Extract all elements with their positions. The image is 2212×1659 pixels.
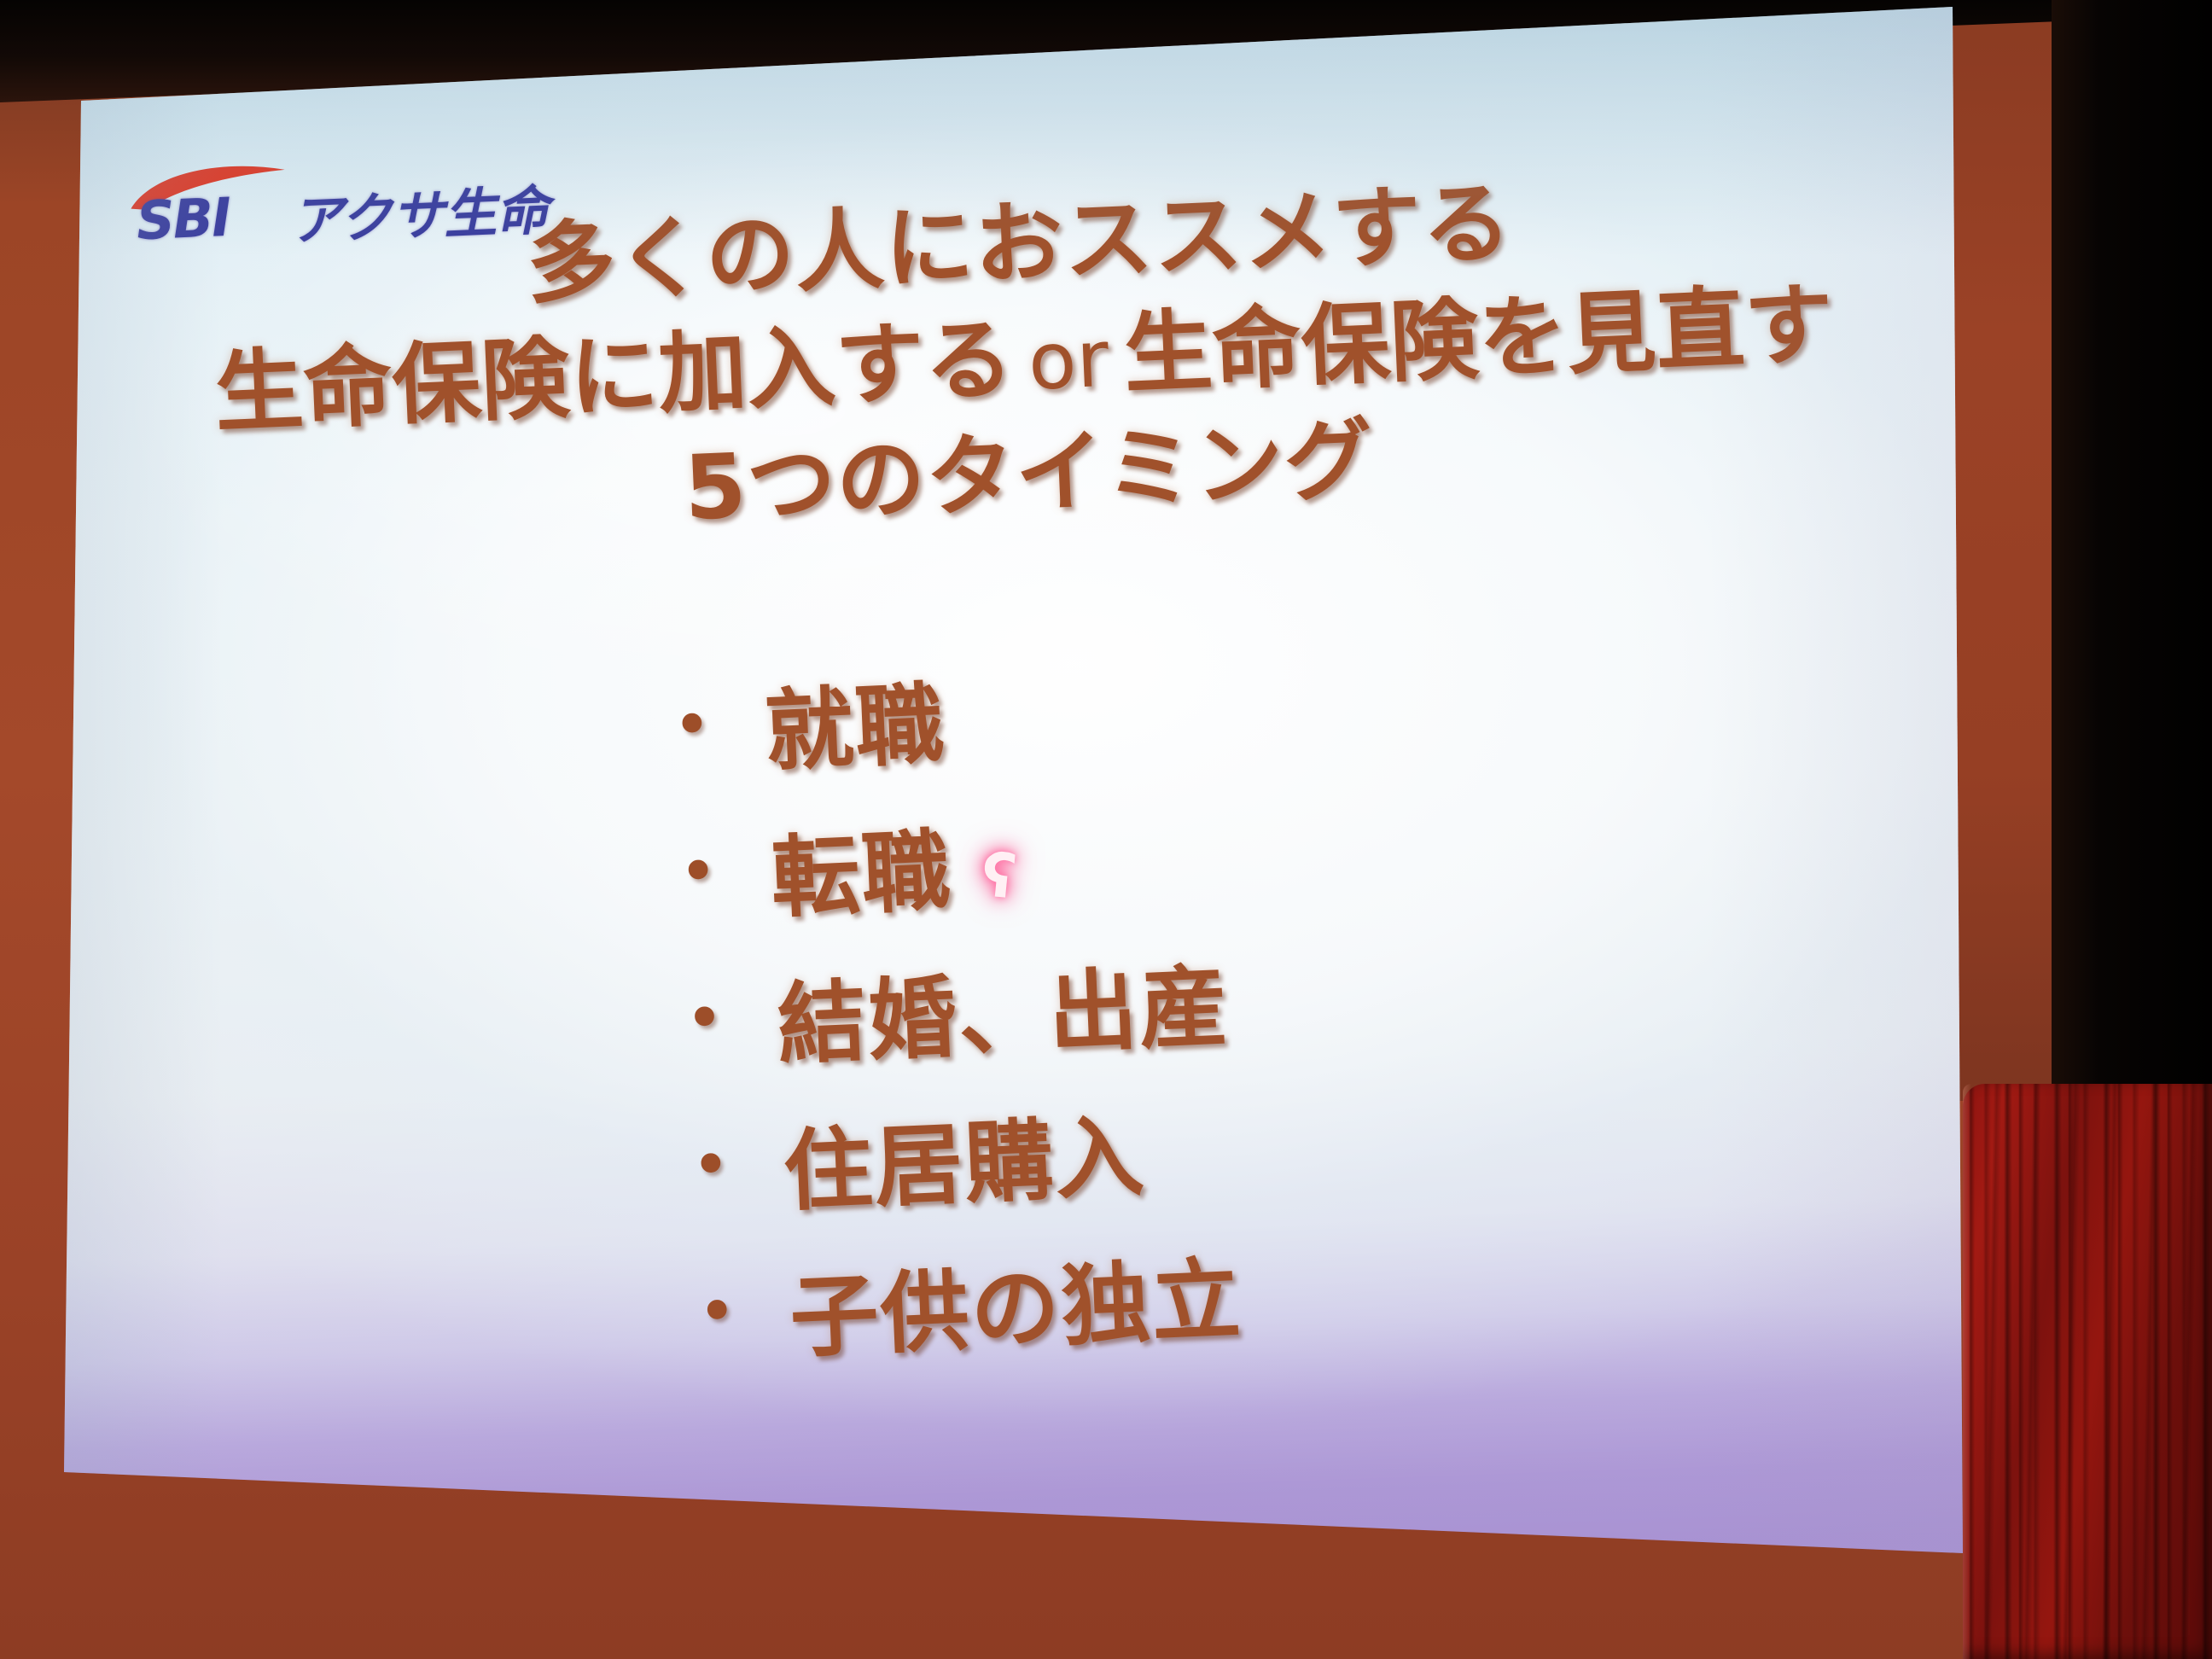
- bullet-dot-icon: •: [678, 859, 719, 887]
- bullet-dot-icon: •: [672, 713, 712, 741]
- wall-strip-right: [1953, 0, 2055, 1101]
- slide-bullet-list: • 就職 • 転職 • 結婚、出産 • 住居購入 • 子供の独立: [669, 610, 1724, 1388]
- podium-edge-highlight: [1963, 1084, 1971, 1659]
- bullet-label-3: 住居購入: [781, 1083, 1148, 1227]
- wooden-podium: [1963, 1084, 2212, 1659]
- slide-content: SBI アクサ生命 多くの人におススメする 生命保険に加入するor生命保険を見直…: [81, 1, 2019, 1530]
- bullet-label-0: 就職: [762, 651, 948, 788]
- laser-pointer-mark: ʕ: [980, 845, 1045, 903]
- bullet-dot-icon: •: [697, 1299, 737, 1327]
- bullet-label-1: 転職: [768, 798, 954, 934]
- headline-conjunction: or: [1011, 312, 1126, 408]
- headline-line-2-right: 生命保険を見直す: [1121, 272, 1835, 406]
- bullet-label-2: 結婚、出産: [774, 933, 1231, 1081]
- presentation-photo-scene: SBI アクサ生命 多くの人におススメする 生命保険に加入するor生命保険を見直…: [0, 0, 2212, 1659]
- bullet-dot-icon: •: [690, 1152, 731, 1180]
- projection-screen: SBI アクサ生命 多くの人におススメする 生命保険に加入するor生命保険を見直…: [0, 0, 2065, 1659]
- bullet-dot-icon: •: [684, 1005, 725, 1033]
- bullet-label-4: 子供の独立: [787, 1226, 1244, 1375]
